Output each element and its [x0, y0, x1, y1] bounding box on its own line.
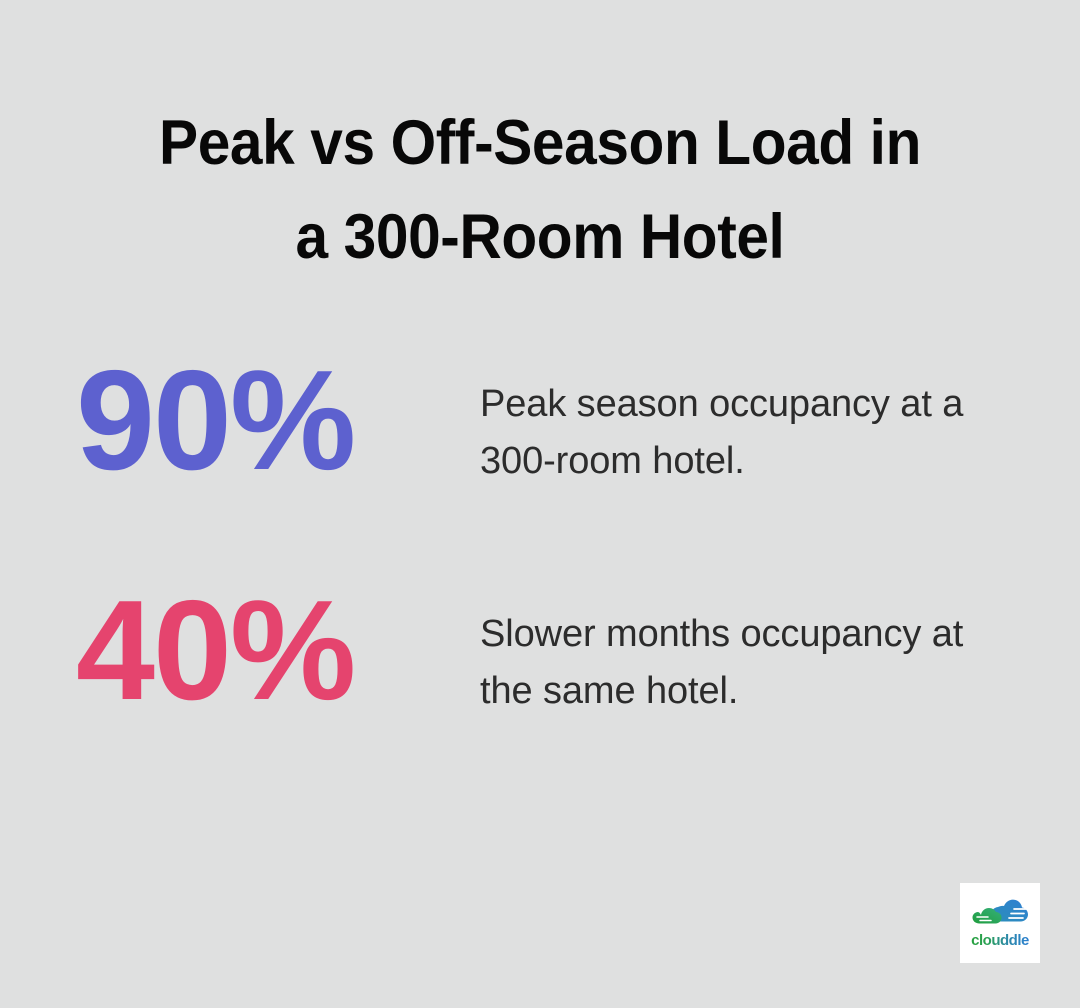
page-title: Peak vs Off-Season Load in a 300-Room Ho…	[0, 96, 1080, 284]
brand-logo-badge: clouddle	[960, 883, 1040, 963]
stat-row: 90% Peak season occupancy at a 300-room …	[0, 362, 1080, 490]
two-clouds-icon	[971, 898, 1029, 932]
brand-wordmark: clouddle	[971, 933, 1029, 949]
page-title-line-2: a 300-Room Hotel	[38, 190, 1042, 284]
infographic-canvas: { "page": { "background_color": "#dfe0e0…	[0, 0, 1080, 1008]
stat-description-offseason: Slower months occupancy at the same hote…	[480, 592, 1010, 720]
page-title-line-1: Peak vs Off-Season Load in	[38, 96, 1042, 190]
stat-description-peak: Peak season occupancy at a 300-room hote…	[480, 362, 1010, 490]
stat-row: 40% Slower months occupancy at the same …	[0, 592, 1080, 720]
stat-value-peak: 90%	[76, 362, 480, 480]
stat-value-offseason: 40%	[76, 592, 480, 710]
stats-list: 90% Peak season occupancy at a 300-room …	[0, 362, 1080, 720]
